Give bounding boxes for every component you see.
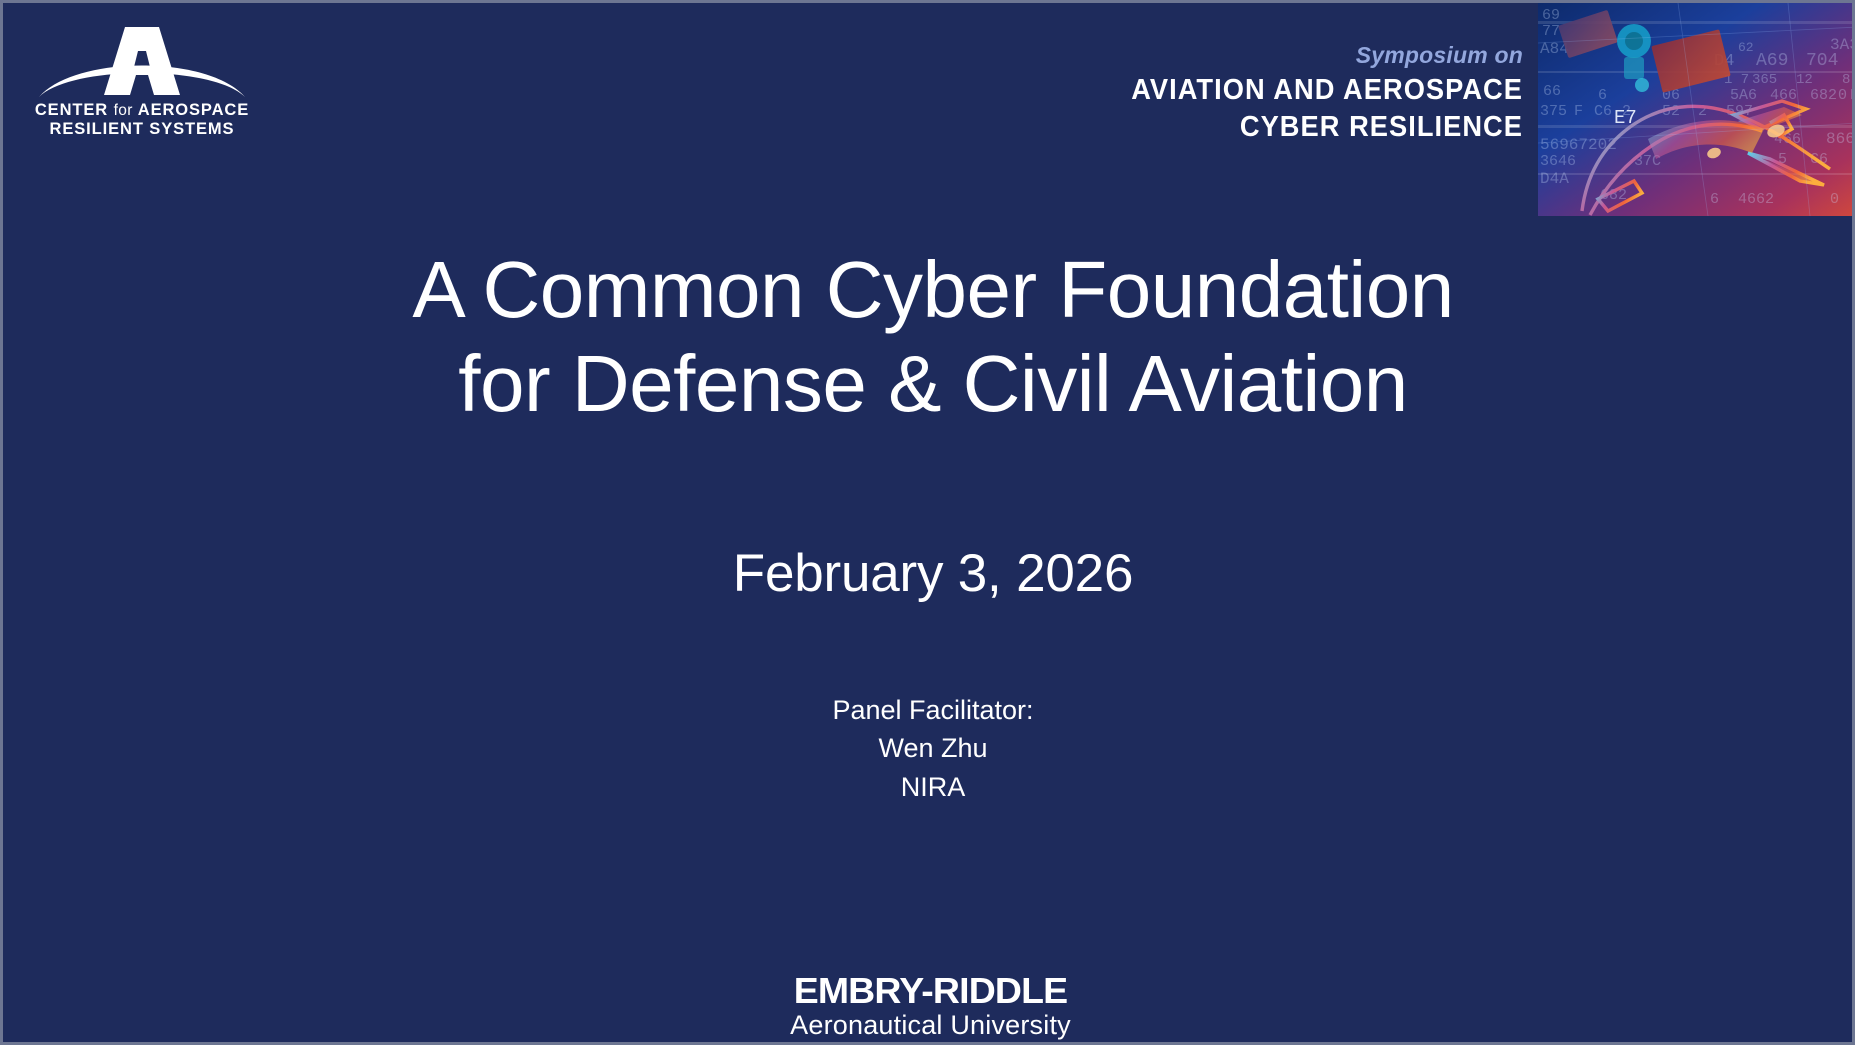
svg-text:6: 6	[1710, 191, 1719, 208]
svg-text:3A3: 3A3	[1830, 36, 1855, 54]
svg-text:704: 704	[1806, 51, 1838, 71]
presentation-date: February 3, 2026	[123, 543, 1743, 604]
svg-text:C6: C6	[1594, 103, 1612, 120]
panel-facilitator-block: Panel Facilitator: Wen Zhu NIRA	[123, 691, 1743, 806]
svg-text:A69: A69	[1756, 51, 1788, 71]
facilitator-label: Panel Facilitator:	[123, 691, 1743, 729]
facilitator-affiliation: NIRA	[123, 768, 1743, 806]
cyber-aviation-graphic: 69 77 A84 D4 A69 704 3A3 66 6 62 1 7 365…	[1538, 3, 1855, 216]
cars-text-resilient-systems: RESILIENT SYSTEMS	[17, 120, 267, 139]
svg-text:E7: E7	[1614, 107, 1637, 129]
cars-text-for: for	[114, 102, 133, 119]
svg-text:4662: 4662	[1738, 191, 1774, 208]
svg-text:682: 682	[1810, 87, 1837, 104]
cars-text-center: CENTER	[35, 101, 108, 119]
embry-riddle-subtitle: Aeronautical University	[3, 1011, 1855, 1041]
svg-text:3646: 3646	[1540, 153, 1576, 170]
svg-text:6: 6	[1598, 87, 1607, 104]
cars-logo: CENTER for AEROSPACE RESILIENT SYSTEMS	[17, 21, 267, 141]
svg-text:D4A: D4A	[1540, 170, 1569, 188]
symposium-headline-line1: AVIATION AND AEROSPACE	[940, 72, 1523, 108]
svg-text:0: 0	[1830, 191, 1839, 208]
svg-text:66: 66	[1543, 83, 1561, 100]
symposium-eyebrow: Symposium on	[903, 43, 1523, 68]
svg-text:12: 12	[1796, 72, 1813, 88]
title-line-1: A Common Cyber Foundation	[123, 243, 1743, 337]
svg-text:5A6: 5A6	[1730, 87, 1757, 104]
symposium-headline-line2: CYBER RESILIENCE	[940, 109, 1523, 145]
page-title: A Common Cyber Foundation for Defense & …	[123, 243, 1743, 432]
title-line-2: for Defense & Civil Aviation	[123, 337, 1743, 431]
symposium-wordmark: Symposium on AVIATION AND AEROSPACE CYBE…	[903, 43, 1523, 145]
svg-text:8: 8	[1842, 72, 1850, 88]
cars-logo-text: CENTER for AEROSPACE RESILIENT SYSTEMS	[17, 101, 267, 140]
svg-text:0: 0	[1838, 87, 1847, 104]
svg-text:375: 375	[1540, 103, 1567, 120]
svg-text:B: B	[1850, 87, 1855, 104]
facilitator-name: Wen Zhu	[123, 729, 1743, 767]
title-slide: CENTER for AEROSPACE RESILIENT SYSTEMS S…	[0, 0, 1855, 1045]
svg-text:62: 62	[1738, 40, 1754, 55]
cars-text-aerospace: AEROSPACE	[138, 101, 249, 119]
svg-text:F: F	[1574, 103, 1583, 120]
svg-text:77: 77	[1542, 23, 1560, 40]
aerospace-arc-a-icon	[17, 21, 267, 99]
svg-text:866: 866	[1826, 130, 1855, 148]
embry-riddle-logo: EMBRY-RIDDLE Aeronautical University	[3, 973, 1855, 1041]
embry-riddle-wordmark: EMBRY-RIDDLE	[0, 973, 1855, 1009]
svg-text:365: 365	[1752, 72, 1777, 88]
